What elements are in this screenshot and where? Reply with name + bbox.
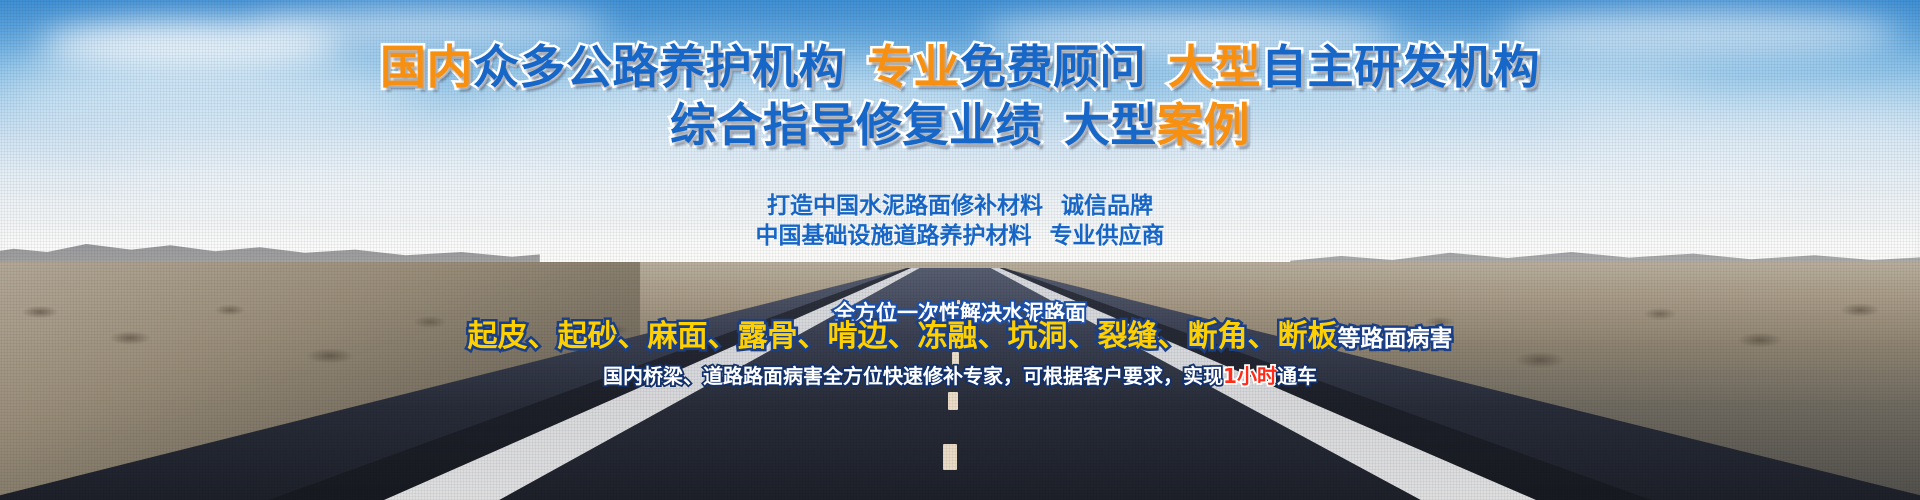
bottom-claim-line: 国内桥梁、道路路面病害全方位快速修补专家，可根据客户要求，实现1小时通车 [0,360,1920,389]
headline-line-1: 国内众多公路养护机构专业免费顾问大型自主研发机构 [0,44,1920,90]
mid-tagline-2b: 专业供应商 [1050,223,1165,249]
headline2-seg-daxing: 大型 [1064,98,1157,152]
headline2-seg-anli: 案例 [1157,98,1250,152]
headline-seg-guonei: 国内 [380,40,473,94]
mid-tagline-2: 中国基础设施道路养护材料专业供应商 [0,222,1920,251]
mid-tagline-1a: 打造中国水泥路面修补材料 [767,193,1043,219]
mid-tagline-2a: 中国基础设施道路养护材料 [756,223,1032,249]
headline-line-2: 综合指导修复业绩大型案例 [0,102,1920,148]
headline2-seg-zonghe: 综合指导修复业绩 [670,98,1042,152]
bottom-damage-line: 起皮、起砂、麻面、露骨、啃边、冻融、坑洞、裂缝、断角、断板等路面病害 [0,320,1920,356]
headline-seg-zhongduo: 众多公路养护机构 [473,40,845,94]
headline-seg-zizhu: 自主研发机构 [1261,40,1540,94]
headline-seg-mianfei: 免费顾问 [960,40,1146,94]
banner-text-layer: 国内众多公路养护机构专业免费顾问大型自主研发机构 综合指导修复业绩大型案例 打造… [0,0,1920,500]
mid-tagline-1b: 诚信品牌 [1061,193,1153,219]
headline-seg-zhuanye: 专业 [867,40,960,94]
promo-banner: 国内众多公路养护机构专业免费顾问大型自主研发机构 综合指导修复业绩大型案例 打造… [0,0,1920,500]
claim-text-b: 通车 [1277,364,1317,388]
damage-types-suffix: 等路面病害 [1338,326,1453,352]
mid-tagline-1: 打造中国水泥路面修补材料诚信品牌 [0,192,1920,221]
claim-text-a: 国内桥梁、道路路面病害全方位快速修补专家，可根据客户要求，实现 [603,364,1223,388]
damage-types-text: 起皮、起砂、麻面、露骨、啃边、冻融、坑洞、裂缝、断角、断板 [468,319,1338,354]
headline-seg-daxing: 大型 [1168,40,1261,94]
claim-highlight-hours: 1小时 [1223,364,1277,388]
